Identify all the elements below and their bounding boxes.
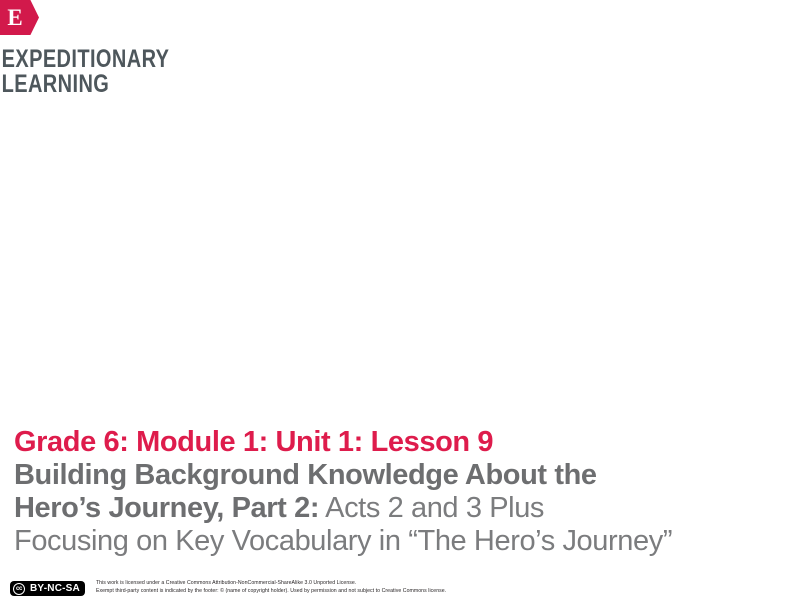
expeditionary-learning-logo-icon: E bbox=[0, 0, 39, 35]
license-badge-label: BY-NC-SA bbox=[30, 584, 80, 594]
creative-commons-icon: cc bbox=[13, 583, 25, 595]
lesson-identifier-line: Grade 6: Module 1: Unit 1: Lesson 9 bbox=[14, 426, 782, 459]
license-line-2: Exempt third-party content is indicated … bbox=[96, 587, 780, 595]
license-footer: cc BY-NC-SA This work is licensed under … bbox=[10, 579, 780, 596]
logo-letter-e: E bbox=[0, 0, 30, 35]
license-text-block: This work is licensed under a Creative C… bbox=[96, 579, 780, 595]
license-line-1: This work is licensed under a Creative C… bbox=[96, 579, 780, 587]
creative-commons-badge: cc BY-NC-SA bbox=[10, 581, 85, 596]
lesson-title-line-4: Focusing on Key Vocabulary in “The Hero’… bbox=[14, 525, 782, 558]
lesson-title-line-3: Hero’s Journey, Part 2: Acts 2 and 3 Plu… bbox=[14, 492, 782, 525]
slide-canvas: E EXPEDITIONARY LEARNING Grade 6: Module… bbox=[0, 0, 790, 600]
lesson-title-line-2: Building Background Knowledge About the bbox=[14, 459, 782, 492]
brand-block: E EXPEDITIONARY LEARNING bbox=[0, 0, 300, 97]
lesson-title-line-3-bold: Hero’s Journey, Part 2: bbox=[14, 492, 319, 524]
brand-wordmark: EXPEDITIONARY LEARNING bbox=[0, 47, 240, 97]
lesson-title-block: Grade 6: Module 1: Unit 1: Lesson 9 Buil… bbox=[14, 426, 782, 558]
lesson-title-line-3-regular: Acts 2 and 3 Plus bbox=[319, 492, 544, 524]
wordmark-line-2: LEARNING bbox=[2, 72, 240, 97]
wordmark-line-1: EXPEDITIONARY bbox=[2, 47, 240, 72]
